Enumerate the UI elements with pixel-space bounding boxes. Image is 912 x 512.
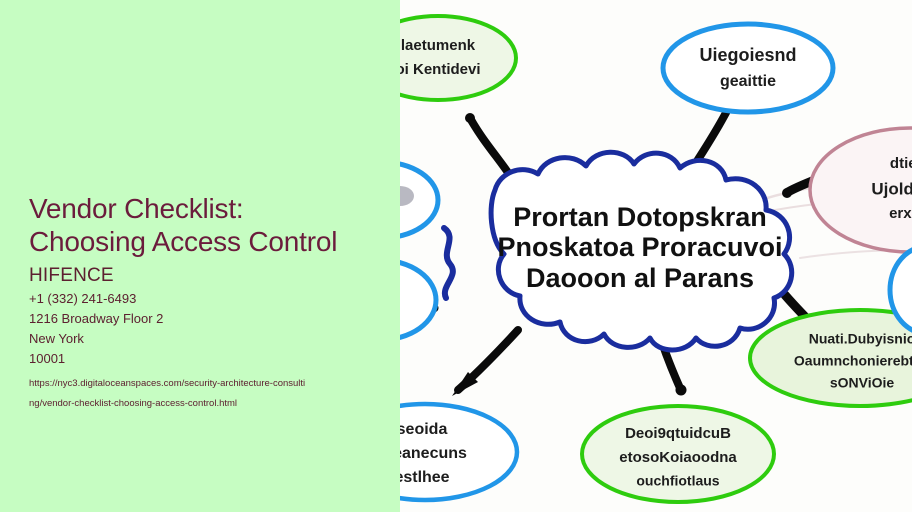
connector-endcap bbox=[676, 385, 687, 396]
center-node-cloud[interactable]: Prortan Dotopskran Pnoskatoa Proracuvoi … bbox=[491, 152, 792, 350]
center-text-line1: Prortan Dotopskran bbox=[513, 202, 767, 232]
contact-zip: 10001 bbox=[29, 349, 400, 369]
source-url-line2: ng/vendor-checklist-choosing-access-cont… bbox=[29, 394, 400, 414]
left-content-block: Vendor Checklist: Choosing Access Contro… bbox=[29, 192, 400, 414]
node-bottom-right-line2: Oaumnchonierebten bbox=[794, 353, 912, 369]
node-top-left[interactable]: laetumenk oi Kentidevi bbox=[400, 16, 516, 100]
center-text-line3: Daooon al Parans bbox=[526, 263, 754, 293]
node-right-line2: Ujoldeigie bbox=[871, 179, 912, 198]
page-title: Vendor Checklist: Choosing Access Contro… bbox=[29, 192, 400, 258]
company-name: HIFENCE bbox=[29, 264, 400, 287]
node-top-center-line2: geaittie bbox=[720, 73, 776, 90]
stray-squiggle bbox=[444, 228, 453, 298]
node-bottom-right-line1: Nuati.Dubyisnio bbox=[809, 331, 912, 347]
connector-endcap bbox=[782, 188, 792, 198]
node-bottom-right[interactable]: Nuati.Dubyisnio Oaumnchonierebten sONViO… bbox=[750, 310, 912, 406]
node-bottom-center-line3: ouchfiotlaus bbox=[636, 473, 719, 489]
node-top-left-line2: oi Kentidevi bbox=[400, 61, 481, 78]
node-bottom-center[interactable]: Deoi9qtuidcuB etosoKoiaoodna ouchfiotlau… bbox=[582, 406, 774, 502]
node-bottom-left-line2: nreanecuns bbox=[400, 445, 467, 462]
source-url-line1: https://nyc3.digitaloceanspaces.com/secu… bbox=[29, 374, 400, 394]
node-top-center[interactable]: Uiegoiesnd geaittie bbox=[663, 24, 833, 112]
slide-page: Vendor Checklist: Choosing Access Contro… bbox=[0, 0, 912, 512]
node-bottom-center-line2: etosoKoiaoodna bbox=[619, 449, 737, 466]
contact-phone: +1 (332) 241-6493 bbox=[29, 289, 400, 309]
node-right-line1: dtieoe bbox=[890, 155, 912, 172]
source-url[interactable]: https://nyc3.digitaloceanspaces.com/secu… bbox=[29, 374, 400, 414]
node-left-lower[interactable] bbox=[400, 260, 436, 340]
node-bottom-left[interactable]: seoida nreanecuns estlhee bbox=[400, 404, 517, 500]
node-left-upper[interactable] bbox=[400, 162, 438, 238]
mindmap-panel: Prortan Dotopskran Pnoskatoa Proracuvoi … bbox=[400, 0, 912, 512]
center-text-line2: Pnoskatoa Proracuvoi bbox=[497, 232, 782, 262]
node-bottom-center-line1: Deoi9qtuidcuB bbox=[625, 425, 731, 442]
node-bottom-left-line3: estlhee bbox=[400, 469, 450, 486]
node-top-center-line1: Uiegoiesnd bbox=[699, 45, 796, 65]
left-info-panel: Vendor Checklist: Choosing Access Contro… bbox=[0, 0, 400, 512]
mindmap-diagram: Prortan Dotopskran Pnoskatoa Proracuvoi … bbox=[400, 0, 912, 512]
node-top-left-line1: laetumenk bbox=[401, 37, 476, 54]
node-top-center-shape bbox=[663, 24, 833, 112]
node-bottom-left-line1: seoida bbox=[400, 421, 447, 438]
node-right-line3: erxiUe bbox=[889, 205, 912, 222]
connector-endcap bbox=[465, 113, 475, 123]
node-left-lower-shape bbox=[400, 260, 436, 340]
contact-address-line1: 1216 Broadway Floor 2 bbox=[29, 309, 400, 329]
contact-city: New York bbox=[29, 329, 400, 349]
node-bottom-right-line3: sONViOie bbox=[830, 375, 895, 391]
node-top-left-shape bbox=[400, 16, 516, 100]
node-right[interactable]: dtieoe Ujoldeigie erxiUe bbox=[810, 128, 912, 252]
